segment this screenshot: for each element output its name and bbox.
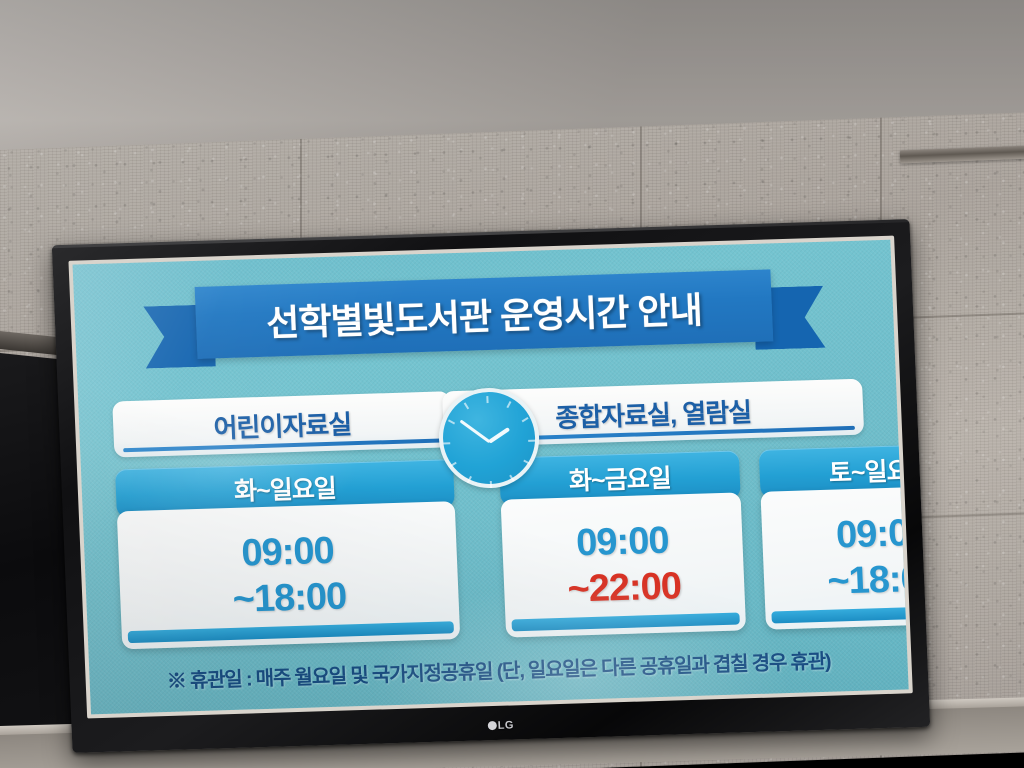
clock-tick xyxy=(467,476,472,483)
lg-logo-text: LG xyxy=(497,719,514,731)
photo-scene: LG 선학별빛도서관 운영시간 안내 어린이자료실 xyxy=(0,0,1024,768)
wall-mounted-television[interactable]: LG 선학별빛도서관 운영시간 안내 어린이자료실 xyxy=(52,219,930,753)
tv-screen[interactable]: 선학별빛도서관 운영시간 안내 어린이자료실 종합자료실, 열람실 xyxy=(73,240,909,715)
time-open-general-weekend: 09:00 xyxy=(835,509,908,558)
time-open-children: 09:00 xyxy=(241,527,335,576)
clock-hour-hand xyxy=(488,427,510,444)
section-header-children: 어린이자료실 xyxy=(112,391,452,457)
clock-tick xyxy=(509,475,514,482)
section-header-general-label: 종합자료실, 열람실 xyxy=(555,392,752,435)
clock-tick xyxy=(522,417,529,422)
tv-bezel: LG 선학별빛도서관 운영시간 안내 어린이자료실 xyxy=(52,219,930,753)
time-close-general-weekend: ~18:00 xyxy=(827,555,909,605)
time-card-children: 09:00 ~18:00 xyxy=(117,501,461,649)
clock-tick xyxy=(490,481,492,488)
title-ribbon: 선학별빛도서관 운영시간 안내 xyxy=(143,268,827,385)
time-close-general-weekday: ~22:00 xyxy=(567,563,682,613)
time-close-children: ~18:00 xyxy=(232,573,347,623)
tv-panel-frame: 선학별빛도서관 운영시간 안내 어린이자료실 종합자료실, 열람실 xyxy=(68,236,912,719)
closing-days-note: ※ 휴관일 : 매주 월요일 및 국가지정공휴일 (단, 일요일은 다른 공휴일… xyxy=(89,642,908,696)
clock-tick xyxy=(464,402,469,409)
clock-minute-hand xyxy=(459,420,490,444)
clock-tick xyxy=(450,462,457,467)
clock-tick xyxy=(523,460,530,465)
day-pill-children-label: 화~일요일 xyxy=(233,469,336,508)
ribbon-body: 선학별빛도서관 운영시간 안내 xyxy=(195,269,774,359)
time-card-general-weekend: 09:00 ~18:00 xyxy=(760,484,908,629)
clock-tick xyxy=(486,396,488,403)
clock-tick xyxy=(506,401,511,408)
section-header-children-label: 어린이자료실 xyxy=(213,404,352,445)
day-pill-general-weekend-label: 토~일요일 xyxy=(828,451,909,490)
time-card-general-weekday: 09:00 ~22:00 xyxy=(501,492,747,637)
page-title: 선학별빛도서관 운영시간 안내 xyxy=(265,282,703,347)
clock-tick xyxy=(528,440,535,442)
lg-logo-mark xyxy=(488,721,497,730)
day-pill-general-weekday-label: 화~금요일 xyxy=(568,459,671,498)
time-open-general-weekday: 09:00 xyxy=(575,517,669,566)
clock-tick xyxy=(443,442,450,444)
clock-tick xyxy=(448,419,455,424)
